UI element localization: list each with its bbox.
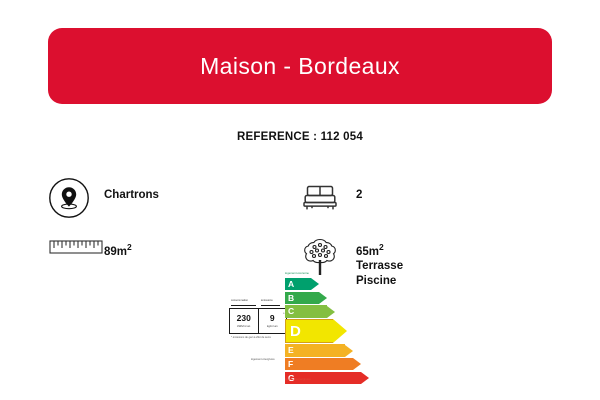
feature-surface-value: 89m2 xyxy=(104,234,132,259)
dpe-emission-value: 9 xyxy=(270,314,275,323)
dpe-value-boxes: 230 kWh/m².an * 9 kg/m².an xyxy=(229,308,287,334)
feature-surface-unit-exponent: 2 xyxy=(127,242,132,252)
property-title-banner: Maison - Bordeaux xyxy=(48,28,552,104)
dpe-bar-f-letter: F xyxy=(288,360,293,369)
dpe-scale-row: B xyxy=(285,292,377,304)
page-title: Maison - Bordeaux xyxy=(200,53,400,80)
dpe-bar-d-letter: D xyxy=(290,324,301,339)
dpe-footnote: * émissions de gaz à effet de serre xyxy=(231,336,271,340)
features-row-1: Chartrons 2 xyxy=(48,176,552,224)
dpe-scale-row: F xyxy=(285,358,377,370)
dpe-scale-row: E xyxy=(285,344,377,356)
dpe-consumption-value: 230 xyxy=(237,314,251,323)
ruler-icon xyxy=(48,234,104,259)
dpe-bar-c: C xyxy=(285,305,335,317)
dpe-emission-unit: kg/m².an xyxy=(267,325,277,328)
dpe-bar-b-body: B xyxy=(285,292,319,304)
dpe-energy-label: logement économe consommation émissions … xyxy=(229,270,377,392)
feature-garden-unit-exponent: 2 xyxy=(379,242,384,252)
dpe-scale-row: A xyxy=(285,278,377,290)
dpe-bar-b-letter: B xyxy=(288,294,294,303)
dpe-bar-e-letter: E xyxy=(288,346,294,355)
dpe-bar-b: B xyxy=(285,292,327,304)
feature-surface-number: 89 xyxy=(104,246,117,258)
dpe-bar-c-arrow xyxy=(327,306,335,318)
feature-surface: 89m2 xyxy=(48,234,300,259)
dpe-emission-rule xyxy=(261,305,280,306)
dpe-scale-row-selected: D xyxy=(285,319,377,343)
dpe-bar-a-letter: A xyxy=(288,280,294,289)
dpe-scale-bars: A B C xyxy=(285,278,377,385)
dpe-bottom-caption: logement énergivore xyxy=(285,378,311,381)
dpe-bar-g-arrow xyxy=(361,372,369,384)
dpe-top-caption: logement économe xyxy=(285,272,309,275)
feature-location-label: Chartrons xyxy=(104,176,159,203)
dpe-consumption-unit: kWh/m².an xyxy=(237,325,250,328)
dpe-side-note: logement énergivore xyxy=(251,358,275,362)
dpe-bar-d-arrow xyxy=(333,319,347,343)
dpe-consumption-box: 230 kWh/m².an xyxy=(230,309,258,333)
reference-label: REFERENCE : 112 054 xyxy=(0,131,600,143)
dpe-bar-b-arrow xyxy=(319,292,327,304)
dpe-consumption-rule xyxy=(231,305,256,306)
feature-garden-surface: 65m2 xyxy=(356,240,403,259)
dpe-bar-f-arrow xyxy=(353,358,361,370)
dpe-bar-e-arrow xyxy=(345,345,353,357)
dpe-emission-header: émissions xyxy=(261,299,273,302)
dpe-bar-e: E xyxy=(285,344,353,356)
bed-icon xyxy=(300,176,356,217)
dpe-consumption-header: consommation xyxy=(231,299,248,302)
dpe-bar-f: F xyxy=(285,358,361,370)
dpe-bar-c-letter: C xyxy=(288,307,294,316)
location-pin-icon xyxy=(48,176,104,219)
dpe-bar-a-body: A xyxy=(285,278,311,290)
dpe-scale-row: C xyxy=(285,305,377,317)
feature-surface-unit: m xyxy=(117,246,127,258)
dpe-emission-box: * 9 kg/m².an xyxy=(258,309,287,333)
dpe-bar-a: A xyxy=(285,278,319,290)
feature-location: Chartrons xyxy=(48,176,300,219)
dpe-bar-c-body: C xyxy=(285,305,327,317)
dpe-bar-d: D xyxy=(285,319,347,343)
feature-bedrooms: 2 xyxy=(300,176,552,217)
dpe-bar-a-arrow xyxy=(311,278,319,290)
dpe-bar-d-body: D xyxy=(285,319,333,343)
feature-bedrooms-count: 2 xyxy=(356,176,362,203)
dpe-bar-e-body: E xyxy=(285,344,345,356)
feature-garden-number: 65 xyxy=(356,246,369,258)
dpe-bar-f-body: F xyxy=(285,358,353,370)
feature-garden-unit: m xyxy=(369,246,379,258)
